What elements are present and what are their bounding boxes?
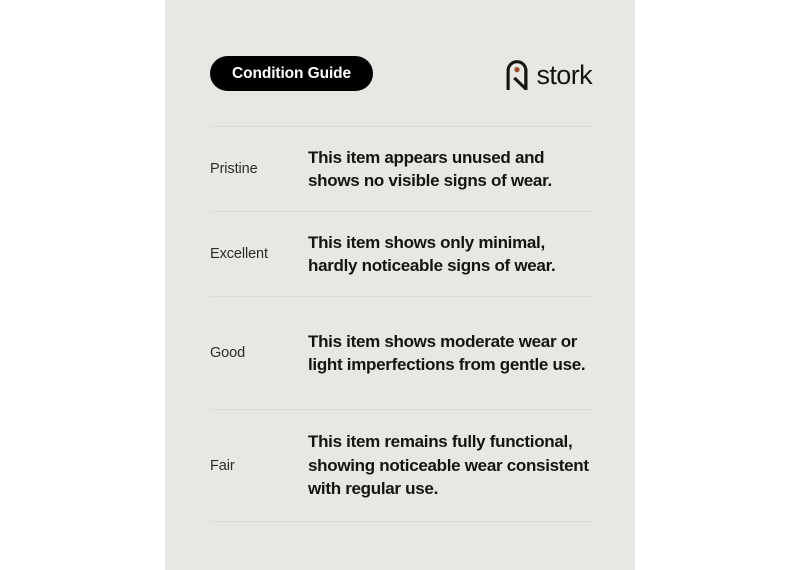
condition-guide-card: Condition Guide stork Pristine This item… — [165, 0, 635, 570]
table-row: Good This item shows moderate wear or li… — [210, 296, 592, 409]
screenshot-root: Condition Guide stork Pristine This item… — [0, 0, 800, 570]
brand-wordmark: stork — [536, 62, 592, 89]
condition-label: Pristine — [210, 161, 308, 177]
condition-label: Good — [210, 345, 308, 361]
condition-description: This item remains fully functional, show… — [308, 430, 592, 500]
table-row: Pristine This item appears unused and sh… — [210, 126, 592, 211]
condition-description: This item appears unused and shows no vi… — [308, 146, 592, 193]
card-header: Condition Guide stork — [210, 56, 592, 92]
brand-lockup: stork — [505, 57, 592, 91]
condition-description: This item shows only minimal, hardly not… — [308, 231, 592, 278]
condition-label: Fair — [210, 458, 308, 474]
condition-description: This item shows moderate wear or light i… — [308, 330, 592, 377]
table-row: Excellent This item shows only minimal, … — [210, 211, 592, 296]
stork-logo-dot-icon — [515, 67, 520, 72]
condition-guide-table: Pristine This item appears unused and sh… — [210, 126, 592, 522]
condition-label: Excellent — [210, 246, 308, 262]
table-row: Fair This item remains fully functional,… — [210, 409, 592, 522]
condition-guide-badge: Condition Guide — [210, 56, 373, 91]
stork-arch-logo-icon — [505, 58, 529, 90]
